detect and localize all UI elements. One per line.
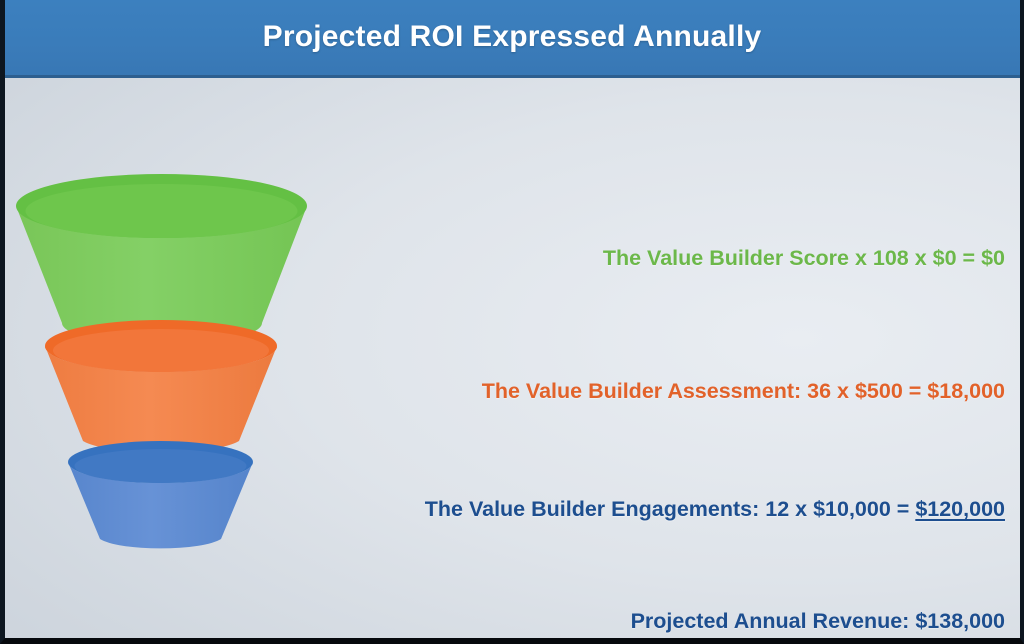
roi-line-assessment: The Value Builder Assessment: 36 x $500 … — [482, 379, 1005, 404]
funnel-diagram — [0, 78, 340, 578]
funnel-stage-assessment — [45, 320, 277, 453]
presentation-slide: Projected ROI Expressed Annually — [0, 0, 1024, 644]
roi-line-engagements: The Value Builder Engagements: 12 x $10,… — [425, 497, 1005, 522]
roi-line-total: Projected Annual Revenue: $138,000 — [631, 609, 1005, 634]
funnel-stage-engagements — [68, 441, 253, 548]
roi-engagements-value: $120,000 — [915, 497, 1005, 521]
roi-line-score: The Value Builder Score x 108 x $0 = $0 — [603, 246, 1005, 271]
roi-engagements-prefix: The Value Builder Engagements: 12 x $10,… — [425, 497, 916, 521]
funnel-stage-score — [16, 174, 307, 345]
slide-title: Projected ROI Expressed Annually — [0, 20, 1024, 54]
